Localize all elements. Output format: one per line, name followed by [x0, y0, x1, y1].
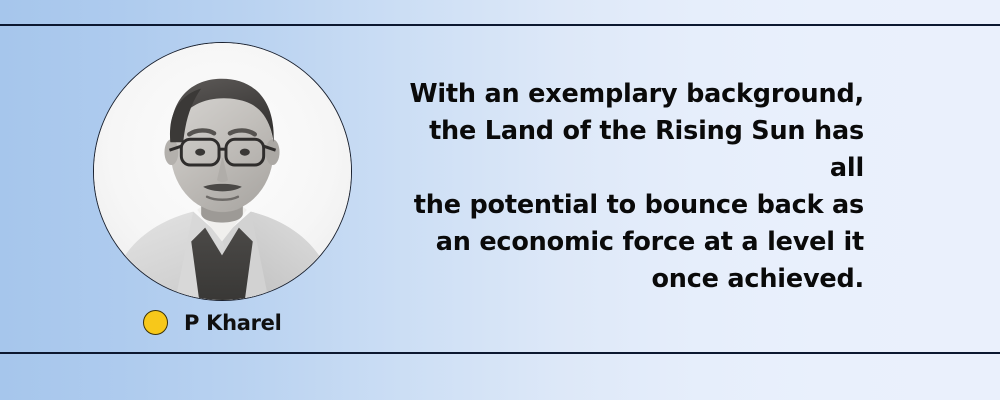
byline: P Kharel [143, 310, 282, 335]
quote-card: With an exemplary background, the Land o… [0, 0, 1000, 400]
avatar [93, 42, 352, 301]
quote-text: With an exemplary background, the Land o… [408, 76, 864, 298]
top-divider-rule [0, 24, 1000, 26]
portrait-photo [94, 43, 351, 300]
byline-author-name: P Kharel [184, 311, 282, 335]
filled-circle-icon [143, 310, 168, 335]
bottom-divider-rule [0, 352, 1000, 354]
